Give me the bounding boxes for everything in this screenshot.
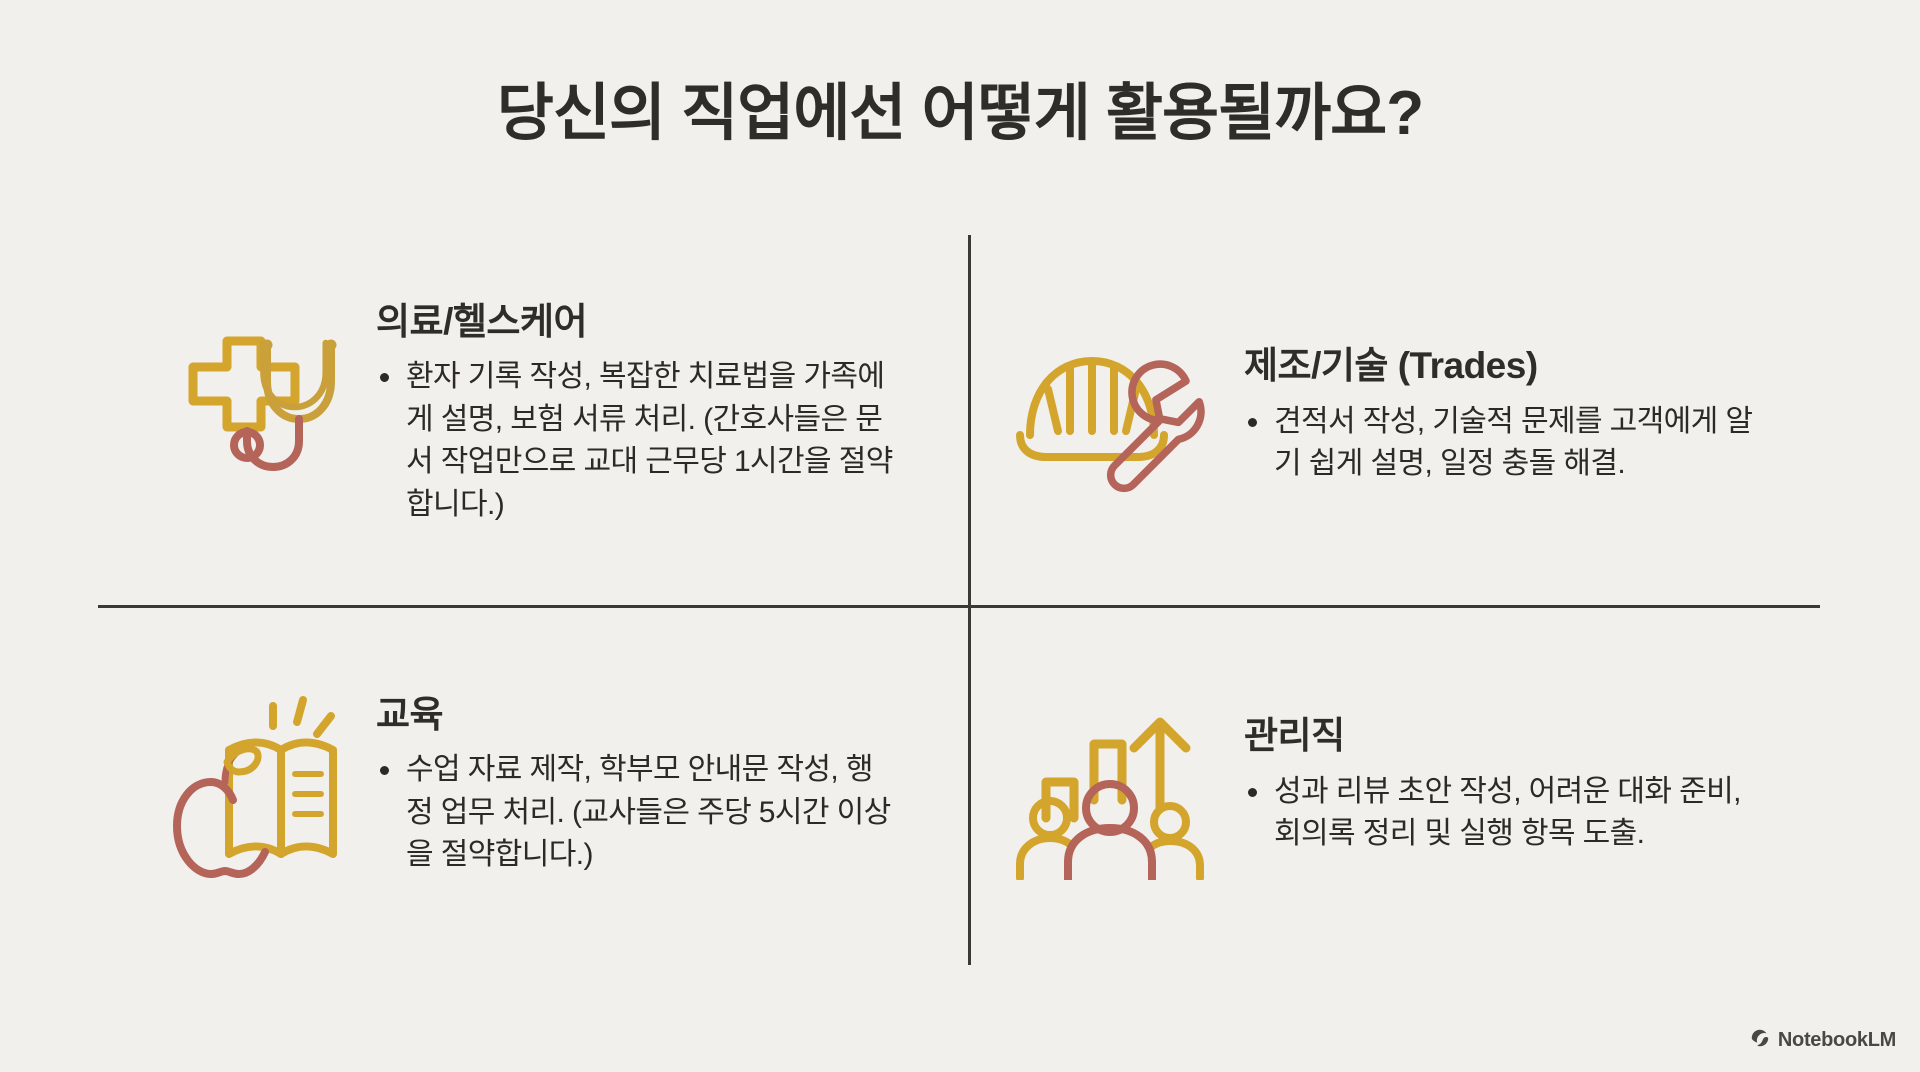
list-item: 성과 리뷰 초안 작성, 어려운 대화 준비, 회의록 정리 및 실행 항목 도… xyxy=(1244,771,1764,856)
apple-book-icon xyxy=(150,670,360,900)
watermark-label: NotebookLM xyxy=(1778,1029,1896,1052)
notebooklm-logo-icon xyxy=(1749,1027,1771,1054)
quadrant-education-body: 교육 수업 자료 제작, 학부모 안내문 작성, 행정 업무 처리. (교사들은… xyxy=(376,693,896,877)
list-item: 환자 기록 작성, 복잡한 치료법을 가족에게 설명, 보험 서류 처리. (간… xyxy=(376,356,896,526)
quadrant-heading: 교육 xyxy=(376,693,896,737)
quadrant-trades: 제조/기술 (Trades) 견적서 작성, 기술적 문제를 고객에게 알기 쉽… xyxy=(970,230,1820,600)
quadrant-management-body: 관리직 성과 리뷰 초안 작성, 어려운 대화 준비, 회의록 정리 및 실행 … xyxy=(1244,714,1764,856)
quadrant-education: 교육 수업 자료 제작, 학부모 안내문 작성, 행정 업무 처리. (교사들은… xyxy=(120,600,970,970)
quadrant-bullet-list: 환자 기록 작성, 복잡한 치료법을 가족에게 설명, 보험 서류 처리. (간… xyxy=(376,356,896,526)
quadrant-bullet-list: 수업 자료 제작, 학부모 안내문 작성, 행정 업무 처리. (교사들은 주당… xyxy=(376,749,896,877)
quadrant-grid: 의료/헬스케어 환자 기록 작성, 복잡한 치료법을 가족에게 설명, 보험 서… xyxy=(120,230,1820,970)
list-item: 견적서 작성, 기술적 문제를 고객에게 알기 쉽게 설명, 일정 충돌 해결. xyxy=(1244,401,1764,486)
medical-cross-stethoscope-icon xyxy=(150,298,360,528)
quadrant-trades-body: 제조/기술 (Trades) 견적서 작성, 기술적 문제를 고객에게 알기 쉽… xyxy=(1244,344,1764,486)
list-item: 수업 자료 제작, 학부모 안내문 작성, 행정 업무 처리. (교사들은 주당… xyxy=(376,749,896,877)
quadrant-heading: 관리직 xyxy=(1244,714,1764,758)
notebooklm-watermark: NotebookLM xyxy=(1749,1027,1896,1054)
slide-canvas: 당신의 직업에선 어떻게 활용될까요? xyxy=(0,0,1920,1072)
page-title: 당신의 직업에선 어떻게 활용될까요? xyxy=(0,78,1920,149)
quadrant-heading: 제조/기술 (Trades) xyxy=(1244,344,1764,388)
hardhat-wrench-icon xyxy=(1000,300,1230,530)
quadrant-healthcare: 의료/헬스케어 환자 기록 작성, 복잡한 치료법을 가족에게 설명, 보험 서… xyxy=(120,230,970,600)
quadrant-bullet-list: 성과 리뷰 초안 작성, 어려운 대화 준비, 회의록 정리 및 실행 항목 도… xyxy=(1244,771,1764,856)
quadrant-management: 관리직 성과 리뷰 초안 작성, 어려운 대화 준비, 회의록 정리 및 실행 … xyxy=(970,600,1820,970)
quadrant-bullet-list: 견적서 작성, 기술적 문제를 고객에게 알기 쉽게 설명, 일정 충돌 해결. xyxy=(1244,401,1764,486)
quadrant-heading: 의료/헬스케어 xyxy=(376,300,896,344)
people-growth-chart-icon xyxy=(1000,670,1230,900)
quadrant-healthcare-body: 의료/헬스케어 환자 기록 작성, 복잡한 치료법을 가족에게 설명, 보험 서… xyxy=(376,300,896,527)
